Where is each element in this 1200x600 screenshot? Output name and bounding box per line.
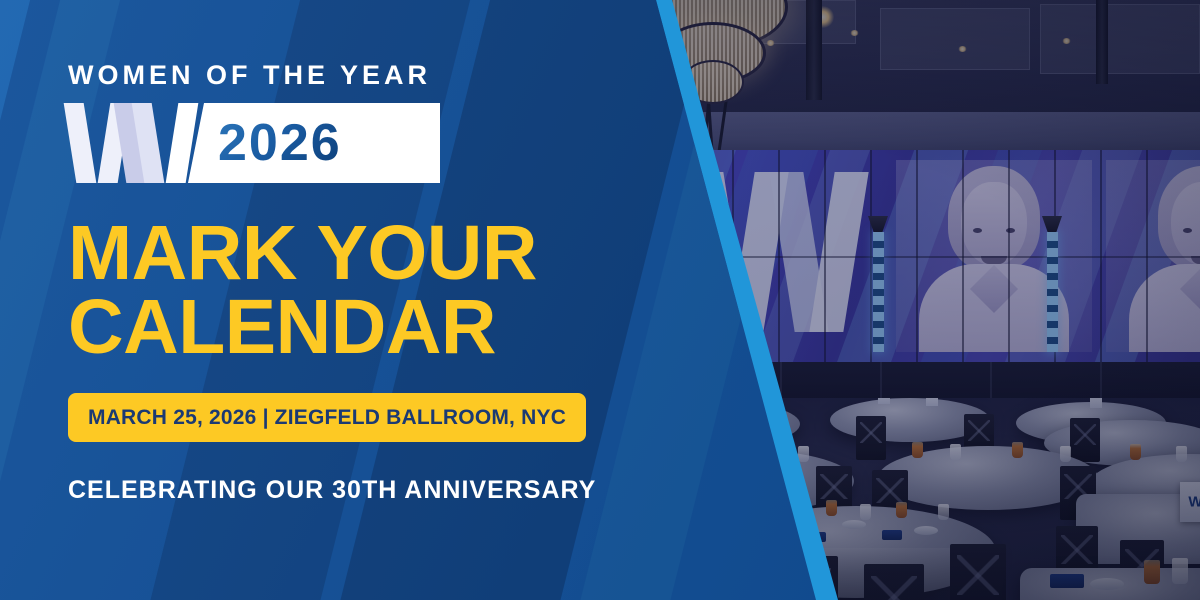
table-number-card: [1090, 398, 1102, 408]
portrait-neckline: [1180, 265, 1200, 313]
ceiling-spotlight: [1062, 38, 1071, 44]
ceiling-spotlight: [850, 30, 859, 36]
portrait-neckline: [970, 265, 1018, 313]
water-glass: [1060, 446, 1071, 462]
iced-tea-glass: [912, 442, 923, 458]
iced-tea-glass: [826, 500, 837, 516]
portrait-eye: [1183, 228, 1192, 233]
event-details-badge: MARCH 25, 2026 | ZIEGFELD BALLROOM, NYC: [68, 393, 586, 442]
table-number-card: [926, 398, 938, 406]
dinner-plate: [842, 520, 866, 529]
headline-line-2: CALENDAR: [68, 291, 628, 365]
water-glass: [860, 504, 871, 520]
led-panel-seam: [824, 150, 826, 362]
ceiling-spotlight: [958, 46, 967, 52]
iced-tea-glass: [1012, 442, 1023, 458]
program-kicker: WOMEN OF THE YEAR: [68, 62, 628, 89]
logo-lockup: 2026: [68, 103, 440, 183]
table-signage: W: [1180, 482, 1200, 522]
dinner-plate: [914, 526, 938, 535]
pillar-sconce-light: [1042, 216, 1062, 352]
w-logo-icon: [68, 103, 210, 183]
banquet-chair: [1070, 418, 1100, 462]
portrait-eye: [973, 228, 982, 233]
event-banner: W WOMEN OF THE YEAR: [0, 0, 1200, 600]
water-glass: [798, 446, 809, 462]
logo-year: 2026: [218, 117, 342, 169]
led-panel-seam: [1100, 150, 1102, 362]
lighting-truss: [806, 0, 822, 100]
sconce-tube: [1047, 232, 1058, 352]
page-title: MARK YOUR CALENDAR: [68, 217, 628, 365]
portrait-body: [1129, 264, 1200, 352]
sconce-tube: [873, 232, 884, 352]
led-panel-seam: [1146, 150, 1148, 362]
iced-tea-glass: [896, 502, 907, 518]
banner-content: WOMEN OF THE YEAR 2026 MARK YOUR CALENDA…: [68, 62, 628, 505]
napkin: [1050, 574, 1084, 588]
anniversary-tagline: CELEBRATING OUR 30TH ANNIVERSARY: [68, 476, 628, 505]
napkin: [882, 530, 902, 540]
led-panel-seam: [962, 150, 964, 362]
table-number-card: [878, 398, 890, 404]
w-stroke: [809, 172, 868, 332]
dinner-plate: [1090, 578, 1124, 590]
pillar-sconce-light: [868, 216, 888, 352]
lighting-truss: [1096, 0, 1108, 84]
iced-tea-glass: [1130, 444, 1141, 460]
sconce-head: [868, 216, 888, 232]
water-glass: [950, 444, 961, 460]
led-panel-seam: [916, 150, 918, 362]
iced-tea-glass: [1144, 560, 1160, 584]
table-sign-letter: W: [1188, 494, 1200, 511]
portrait-face: [961, 182, 1027, 266]
water-glass: [938, 504, 949, 520]
sconce-head: [1042, 216, 1062, 232]
banquet-chair: [864, 564, 924, 600]
banquet-chair: [950, 544, 1006, 600]
led-panel-seam: [778, 150, 780, 362]
w-stroke: [64, 103, 97, 183]
banquet-chair: [856, 416, 886, 460]
water-glass: [1176, 446, 1187, 462]
led-panel-seam: [1008, 150, 1010, 362]
w-stroke: [166, 103, 199, 183]
ceiling-panel: [880, 8, 1030, 70]
water-glass: [1172, 558, 1188, 584]
